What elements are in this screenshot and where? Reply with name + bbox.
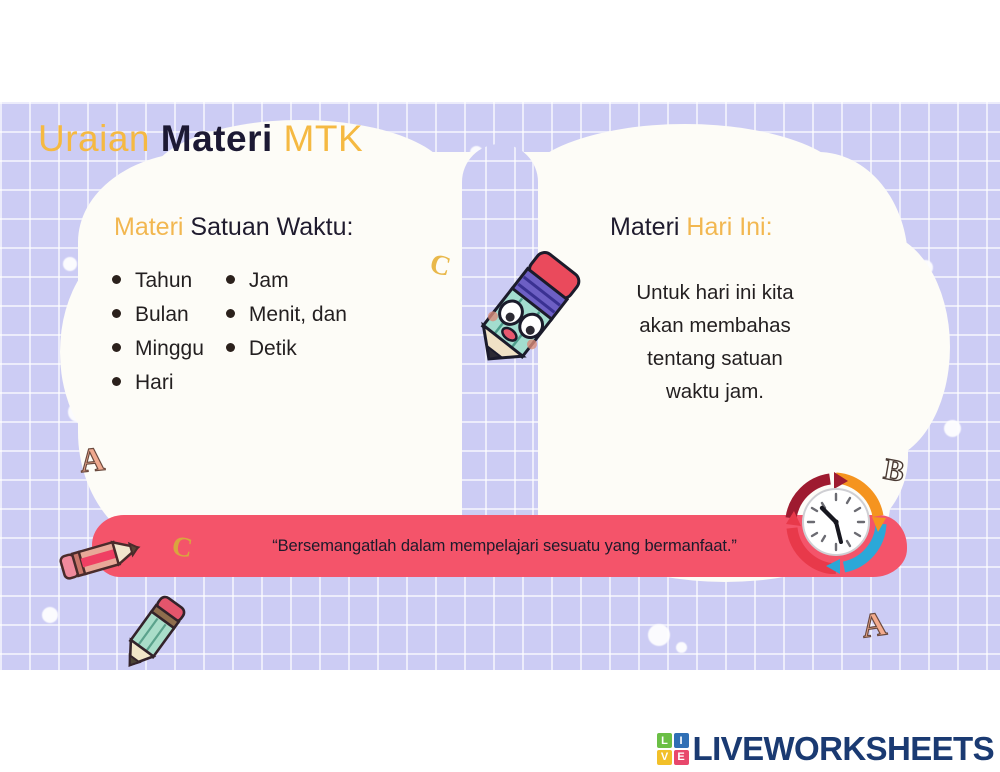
deco-letter-a-left: A	[78, 441, 106, 481]
bullet-dot-icon	[226, 343, 235, 352]
bokeh-dot	[42, 607, 58, 623]
body-line: Untuk hari ini kita	[570, 276, 860, 309]
liveworksheets-logo[interactable]: L I V E LIVEWORKSHEETS	[657, 730, 994, 768]
page-title-part-materi: Materi	[161, 118, 284, 159]
right-card-body: Untuk hari ini kita akan membahas tentan…	[540, 276, 908, 409]
right-card-title-dark: Materi	[610, 213, 686, 241]
right-card-title: Materi Hari Ini:	[610, 214, 908, 242]
logo-tile-v: V	[657, 750, 672, 765]
list-item: Menit, dan	[226, 298, 347, 332]
worksheet-page: Uraian Materi MTK Materi Satuan Waktu: T…	[0, 0, 1000, 772]
list-item: Tahun	[112, 264, 204, 298]
deco-letter-a-right: A	[859, 605, 889, 646]
page-title-part-uraian: Uraian	[38, 118, 161, 159]
list-item: Bulan	[112, 298, 204, 332]
logo-tile-l: L	[657, 733, 672, 748]
right-card-title-gold: Hari Ini:	[686, 213, 772, 241]
page-title: Uraian Materi MTK	[38, 120, 363, 157]
bokeh-dot	[63, 257, 77, 271]
grid-paper-background: Uraian Materi MTK Materi Satuan Waktu: T…	[0, 102, 1000, 670]
left-card-title-gold: Materi	[114, 213, 190, 241]
list-item-label: Tahun	[135, 264, 192, 298]
bullet-dot-icon	[226, 309, 235, 318]
logo-tiles-icon: L I V E	[657, 733, 689, 765]
pencil-character-icon	[462, 250, 590, 376]
left-card-title: Materi Satuan Waktu:	[114, 214, 462, 242]
bullet-column-one: Tahun Bulan Minggu Hari	[112, 264, 204, 400]
bullet-dot-icon	[112, 377, 121, 386]
list-item-label: Bulan	[135, 298, 189, 332]
banner-quote-text: “Bersemangatlah dalam mempelajari sesuat…	[272, 537, 737, 556]
bullet-dot-icon	[112, 275, 121, 284]
bullet-column-two: Jam Menit, dan Detik	[226, 264, 347, 400]
logo-tile-e: E	[674, 750, 689, 765]
list-item-label: Hari	[135, 366, 174, 400]
body-line: waktu jam.	[570, 375, 860, 408]
pencil-pink-icon	[55, 526, 147, 588]
bokeh-dot	[676, 642, 687, 653]
left-card-title-dark: Satuan Waktu:	[190, 213, 353, 241]
bullet-dot-icon	[226, 275, 235, 284]
list-item-label: Minggu	[135, 332, 204, 366]
body-line: akan membahas	[570, 309, 860, 342]
card-satuan-waktu: Materi Satuan Waktu: Tahun Bulan Minggu …	[92, 188, 462, 548]
bokeh-dot	[944, 420, 961, 437]
list-item: Jam	[226, 264, 347, 298]
logo-wordmark: LIVEWORKSHEETS	[693, 730, 994, 768]
body-line: tentang satuan	[570, 342, 860, 375]
list-item-label: Jam	[249, 264, 289, 298]
bokeh-dot	[648, 624, 670, 646]
bullet-dot-icon	[112, 343, 121, 352]
left-card-bullet-columns: Tahun Bulan Minggu Hari Jam Menit, dan D…	[112, 264, 462, 400]
list-item: Minggu	[112, 332, 204, 366]
list-item-label: Menit, dan	[249, 298, 347, 332]
logo-tile-i: I	[674, 733, 689, 748]
bullet-dot-icon	[112, 309, 121, 318]
list-item: Hari	[112, 366, 204, 400]
pencil-green-icon	[108, 594, 198, 670]
clock-icon	[782, 470, 890, 574]
list-item-label: Detik	[249, 332, 297, 366]
page-title-part-mtk: MTK	[284, 118, 364, 159]
list-item: Detik	[226, 332, 347, 366]
